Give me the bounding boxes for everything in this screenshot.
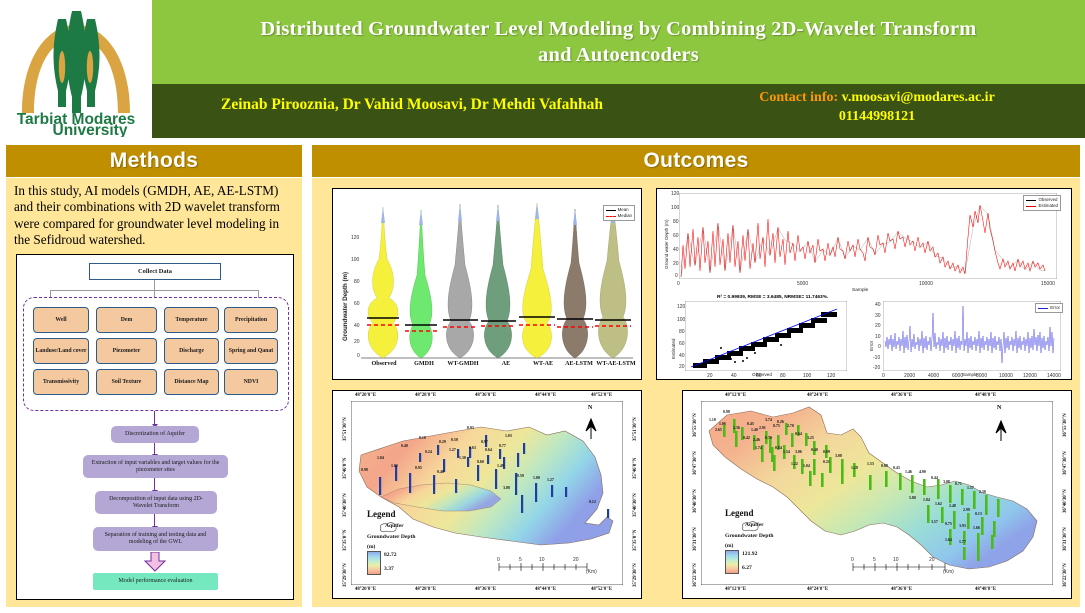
well-value-label: 1.03 bbox=[505, 434, 512, 438]
well-value-label: 0.88 bbox=[881, 464, 888, 468]
well-value-label: 0.12 bbox=[589, 500, 596, 504]
error-xlabel: Sample bbox=[962, 372, 978, 377]
map1-legend-depth-title: Groundwater Depth bbox=[367, 534, 415, 540]
well-value-label: 3.06 bbox=[795, 450, 802, 454]
violin-ytick-120: 120 bbox=[351, 235, 359, 241]
well-value-label: 0.95 bbox=[415, 466, 422, 470]
map1-lon-b3: 48°36'0"E bbox=[475, 587, 496, 592]
map1-legend-min: 3.37 bbox=[384, 566, 394, 572]
map2-legend-colorramp bbox=[725, 550, 739, 574]
violin-ytick-0: 0 bbox=[357, 353, 360, 359]
error-legend-swatch bbox=[1038, 308, 1048, 309]
ts-legend-estimated-swatch bbox=[1026, 206, 1036, 207]
map1-legend-title: Legend bbox=[367, 509, 396, 519]
flow-var-temperature: Temperature bbox=[164, 307, 219, 333]
well-value-label: 2.70 bbox=[787, 424, 794, 428]
well-value-label: 1.04 bbox=[803, 464, 810, 468]
ts-xtick-10000: 10000 bbox=[919, 281, 933, 287]
author-list: Zeinab Pirooznia, Dr Vahid Moosavi, Dr M… bbox=[162, 96, 662, 114]
well-value-label: 1.74 bbox=[755, 446, 762, 450]
scatter-canvas bbox=[685, 301, 847, 371]
methods-body-text: In this study, AI models (GMDH, AE, AE-L… bbox=[14, 183, 296, 249]
error-ytick-40: 40 bbox=[875, 302, 881, 308]
flow-var-transmissivity: Transmissivity bbox=[33, 369, 89, 395]
contact-info: Contact info: v.moosavi@modares.ac.ir 01… bbox=[672, 88, 1082, 126]
map2-lon-4: 48°48'0"E bbox=[975, 393, 996, 398]
well-value-label: 2.91 bbox=[759, 426, 766, 430]
well-value-label: 1.22 bbox=[791, 462, 798, 466]
map1-lat-r3: 35°40'30"N bbox=[633, 493, 638, 517]
map2-lat-3: 36°40'30"N bbox=[693, 489, 698, 513]
scatter-stats-title: R² = 0.99939, RMSE = 3.6485, NRMSE= 11.7… bbox=[717, 295, 828, 300]
violin-legend-median-swatch bbox=[606, 216, 616, 217]
map2-legend-depth-title: Groundwater Depth bbox=[725, 533, 773, 539]
flow-var-distance-map: Distance Map bbox=[164, 369, 219, 395]
well-value-label: 0.43 bbox=[893, 466, 900, 470]
error-ytick-10: 10 bbox=[875, 334, 881, 340]
methods-title: Methods bbox=[110, 149, 198, 173]
ts-xtick-5000: 5000 bbox=[797, 281, 808, 287]
map2-lon-1: 48°12'0"E bbox=[725, 393, 746, 398]
flow-var-precipitation: Precipitation bbox=[224, 307, 278, 333]
well-value-label: 2.65 bbox=[715, 428, 722, 432]
well-value-label: 0.10 bbox=[419, 436, 426, 440]
well-value-label: 1.40 bbox=[751, 428, 758, 432]
violin-ytick-80: 80 bbox=[354, 279, 360, 285]
timeseries-ylabel: Ground water Depth (m) bbox=[664, 219, 669, 269]
violin-xtick-wt-ae-lstm: WT-AE-LSTM bbox=[591, 361, 641, 367]
scatter-xtick-120: 120 bbox=[827, 373, 835, 379]
map1-scale-unit: (Km) bbox=[586, 569, 597, 575]
error-ytick-0: 0 bbox=[878, 344, 881, 350]
map1-lon-b5: 48°52'0"E bbox=[591, 587, 612, 592]
map1-legend-aquifer: Aquifer bbox=[385, 523, 404, 529]
flow-step-extraction: Extraction of input variables and target… bbox=[83, 455, 228, 478]
map1-scale-20: 20 bbox=[573, 557, 579, 563]
violin-xtick-observed: Observed bbox=[363, 361, 405, 367]
map1-lat-2: 35°46'0"N bbox=[343, 458, 348, 479]
scatter-ytick-80: 80 bbox=[679, 329, 685, 335]
outcomes-section-header: Outcomes bbox=[312, 145, 1080, 177]
violin-ylabel: Groundwater Depth (m) bbox=[342, 272, 349, 341]
flow-var-well: Well bbox=[33, 307, 89, 333]
map1-lat-r5: 35°29'30"N bbox=[633, 563, 638, 587]
map2-scale-0: 0 bbox=[851, 557, 854, 563]
ts-xtick-0: 0 bbox=[677, 281, 680, 287]
map2-lat-r3: 36°40'30"N bbox=[1063, 489, 1068, 513]
map2-lon-3: 48°36'0"E bbox=[891, 393, 912, 398]
map1-legend-colorramp bbox=[367, 551, 381, 575]
well-value-label: 1.06 bbox=[719, 422, 726, 426]
poster-header: Tarbiat Modares University Distributed G… bbox=[0, 0, 1085, 142]
flow-var-landuse: Landuse/Land cover bbox=[33, 338, 89, 364]
well-value-label: 1.53 bbox=[867, 462, 874, 466]
well-value-label: 1.30 bbox=[459, 456, 466, 460]
well-value-label: 0.24 bbox=[425, 450, 432, 454]
map2-lon-b2: 48°24'0"E bbox=[807, 587, 828, 592]
flow-var-spring-qanat: Spring and Qanat bbox=[224, 338, 278, 364]
map2-lon-b3: 48°36'0"E bbox=[891, 587, 912, 592]
well-value-label: 3.08 bbox=[503, 486, 510, 490]
violin-xtick-ae: AE bbox=[485, 361, 527, 367]
well-value-label: 0.64 bbox=[485, 448, 492, 452]
scatter-xtick-80: 80 bbox=[780, 373, 786, 379]
map1-lon-2: 48°28'0"E bbox=[415, 393, 436, 398]
error-xtick-0: 0 bbox=[882, 373, 885, 379]
map1-lat-3: 35°40'30"N bbox=[343, 493, 348, 517]
well-value-label: 0.75 bbox=[773, 424, 780, 428]
error-legend-label: Error bbox=[1050, 305, 1060, 311]
well-value-label: 0.77 bbox=[499, 444, 506, 448]
well-value-label: 2.36 bbox=[733, 426, 740, 430]
well-value-label: 0.42 bbox=[743, 436, 750, 440]
well-value-label: 1.54 bbox=[783, 450, 790, 454]
well-value-label: 3.74 bbox=[765, 418, 772, 422]
violin-xtick-wt-gmdh: WT-GMDH bbox=[438, 361, 488, 367]
error-xtick-2000: 2000 bbox=[904, 373, 915, 379]
well-value-label: 0.63 bbox=[469, 446, 476, 450]
well-value-label: 3.08 bbox=[835, 454, 842, 458]
well-value-label: 0.50 bbox=[451, 438, 458, 442]
flow-step-separation: Separation of training and testing data … bbox=[93, 527, 218, 551]
flow-var-soil-texture: Soil Texture bbox=[96, 369, 157, 395]
contact-label: Contact info: bbox=[759, 90, 838, 105]
well-value-label: 1.27 bbox=[449, 448, 456, 452]
well-value-label: 0.75 bbox=[945, 522, 952, 526]
well-value-label: 5.80 bbox=[909, 496, 916, 500]
well-value-label: 0.44 bbox=[931, 476, 938, 480]
map2-lon-b1: 48°12'0"E bbox=[725, 587, 746, 592]
poster-title-band: Distributed Groundwater Level Modeling b… bbox=[152, 0, 1085, 84]
well-value-label: 0.93 bbox=[467, 426, 474, 430]
map2-lon-b4: 48°48'0"E bbox=[975, 587, 996, 592]
down-arrow-icon bbox=[144, 552, 166, 572]
well-value-label: 0.13 bbox=[975, 512, 982, 516]
well-value-label: 1.10 bbox=[709, 418, 716, 422]
error-ytick-20: 20 bbox=[875, 323, 881, 329]
methodology-flowchart: Collect Data Well Dem Temperature Precip… bbox=[16, 254, 294, 600]
scatter-xtick-40: 40 bbox=[731, 373, 737, 379]
well-value-label: 1.27 bbox=[547, 478, 554, 482]
scatter-xlabel: Observed bbox=[752, 372, 772, 377]
error-xtick-4000: 4000 bbox=[928, 373, 939, 379]
map1-lat-r2: 35°46'0"N bbox=[633, 458, 638, 479]
well-value-label: 0.64 bbox=[795, 432, 802, 436]
map2-legend-aquifer: Aquifer bbox=[745, 522, 764, 528]
violin-legend: Mean Median bbox=[603, 205, 635, 221]
well-value-label: 1.49 bbox=[497, 464, 504, 468]
well-value-label: 1.57 bbox=[967, 486, 974, 490]
well-value-label: 0.98 bbox=[361, 468, 368, 472]
well-value-label: 0.71 bbox=[955, 482, 962, 486]
well-value-label: 2.46 bbox=[753, 438, 760, 442]
ts-ytick-20: 20 bbox=[673, 261, 679, 267]
well-value-label: 0.59 bbox=[517, 474, 524, 478]
map2-lat-r1: 36°55'30"N bbox=[1063, 413, 1068, 437]
flow-var-discharge: Discharge bbox=[164, 338, 219, 364]
map2-scale-10: 10 bbox=[893, 557, 899, 563]
timeseries-xlabel: Sample bbox=[852, 288, 868, 293]
map2-lat-5: 36°22'30"N bbox=[693, 563, 698, 587]
ts-ytick-0: 0 bbox=[675, 273, 678, 279]
well-value-label: 0.21 bbox=[823, 460, 830, 464]
violin-ytick-40: 40 bbox=[354, 323, 360, 329]
map1-scale-10: 10 bbox=[539, 557, 545, 563]
methods-section-header: Methods bbox=[6, 145, 302, 177]
well-value-label: 0.45 bbox=[747, 422, 754, 426]
authors-band: Zeinab Pirooznia, Dr Vahid Moosavi, Dr M… bbox=[152, 84, 1085, 138]
map2-lat-r2: 36°47'30"N bbox=[1063, 451, 1068, 475]
map1-lon-b2: 48°28'0"E bbox=[415, 587, 436, 592]
map2-canvas: 0.981.101.062.652.360.453.740.261.402.91… bbox=[701, 401, 1053, 585]
map-left-figure: 48°20'0"E 48°28'0"E 48°36'0"E 48°44'0"E … bbox=[332, 390, 642, 599]
map2-scale-unit: (Km) bbox=[943, 569, 954, 575]
well-value-label: 2.30 bbox=[979, 490, 986, 494]
map2-north-label: N bbox=[997, 405, 1001, 411]
flow-var-ndvi: NDVI bbox=[224, 369, 278, 395]
violin-ytick-100: 100 bbox=[351, 257, 359, 263]
scatter-xtick-100: 100 bbox=[803, 373, 811, 379]
ts-ytick-60: 60 bbox=[673, 233, 679, 239]
map2-legend-max: 121.92 bbox=[742, 551, 757, 557]
violin-ytick-60: 60 bbox=[354, 301, 360, 307]
ts-ytick-40: 40 bbox=[673, 247, 679, 253]
model-performance-figure: Ground water Depth (m) 120 100 80 60 40 … bbox=[656, 188, 1072, 380]
well-value-label: 0.98 bbox=[723, 410, 730, 414]
well-value-label: 1.66 bbox=[973, 526, 980, 530]
scatter-ytick-40: 40 bbox=[679, 353, 685, 359]
map1-lat-r1: 35°51'30"N bbox=[633, 417, 638, 441]
map1-lat-5: 35°29'30"N bbox=[343, 563, 348, 587]
well-value-label: 1.62 bbox=[935, 502, 942, 506]
map-right-figure: 48°12'0"E 48°24'0"E 48°36'0"E 48°48'0"E … bbox=[682, 390, 1072, 599]
map1-north-label: N bbox=[588, 405, 592, 411]
well-value-label: 0.40 bbox=[811, 448, 818, 452]
poster-root: Tarbiat Modares University Distributed G… bbox=[0, 0, 1085, 613]
map2-legend-unit: (m) bbox=[725, 543, 733, 549]
map1-legend-max: 82.72 bbox=[384, 552, 397, 558]
timeseries-legend: Observed Estimated bbox=[1023, 195, 1061, 211]
flow-collect-data: Collect Data bbox=[89, 263, 221, 280]
map2-lat-2: 36°47'30"N bbox=[693, 451, 698, 475]
map1-scale-5: 5 bbox=[519, 557, 522, 563]
map2-lat-4: 36°31'30"N bbox=[693, 527, 698, 551]
methods-panel: In this study, AI models (GMDH, AE, AE-L… bbox=[6, 178, 302, 607]
poster-title-line1: Distributed Groundwater Level Modeling b… bbox=[260, 18, 976, 40]
well-value-label: 1.00 bbox=[533, 476, 540, 480]
map1-lon-4: 48°44'0"E bbox=[535, 393, 556, 398]
outcomes-title: Outcomes bbox=[643, 149, 748, 173]
scatter-ylabel: Estimated bbox=[671, 339, 676, 359]
map2-lat-r4: 36°31'30"N bbox=[1063, 527, 1068, 551]
scatter-ytick-60: 60 bbox=[679, 341, 685, 347]
logo-line2: University bbox=[53, 122, 128, 137]
well-value-label: 0.84 bbox=[775, 446, 782, 450]
timeseries-canvas bbox=[679, 193, 1057, 279]
flow-step-discretization: Discretization of Aquifer bbox=[111, 426, 199, 443]
error-ylabel: Error bbox=[869, 341, 874, 351]
error-ytick-n10: -10 bbox=[873, 355, 880, 361]
error-xtick-12000: 12000 bbox=[1023, 373, 1037, 379]
map2-scale-5: 5 bbox=[873, 557, 876, 563]
university-logo: Tarbiat Modares University bbox=[0, 0, 152, 142]
map1-lat-r4: 35°35'0"N bbox=[633, 530, 638, 551]
well-value-label: 1.64 bbox=[945, 538, 952, 542]
map1-lat-1: 35°51'30"N bbox=[343, 417, 348, 441]
violin-legend-mean-swatch bbox=[606, 210, 616, 211]
map2-lat-r5: 36°22'30"N bbox=[1063, 563, 1068, 587]
well-value-label: 1.28 bbox=[851, 466, 858, 470]
map2-lat-1: 36°55'30"N bbox=[693, 413, 698, 437]
scatter-ytick-20: 20 bbox=[679, 364, 685, 370]
map1-legend-unit: (m) bbox=[367, 544, 375, 550]
flow-step-decomposition: Decomposition of input data using 2D- Wa… bbox=[95, 491, 217, 514]
violin-ytick-20: 20 bbox=[354, 339, 360, 345]
well-value-label: 1.04 bbox=[377, 456, 384, 460]
map1-scale-0: 0 bbox=[497, 557, 500, 563]
error-ytick-n20: -20 bbox=[873, 365, 880, 371]
well-value-label: 0.70 bbox=[765, 436, 772, 440]
well-value-label: 1.77 bbox=[959, 540, 966, 544]
well-value-label: 3.08 bbox=[943, 480, 950, 484]
well-value-label: 1.46 bbox=[905, 470, 912, 474]
flow-var-piezometer: Piezometer bbox=[96, 338, 157, 364]
well-value-label: 2.99 bbox=[963, 508, 970, 512]
tarbiat-modares-logo-icon: Tarbiat Modares University bbox=[12, 5, 140, 137]
ts-legend-estimated-label: Estimated bbox=[1038, 203, 1058, 209]
map1-lat-4: 35°35'0"N bbox=[343, 530, 348, 551]
well-value-label: 3.25 bbox=[807, 436, 814, 440]
page-title: Distributed Groundwater Level Modeling b… bbox=[244, 16, 992, 68]
contact-email[interactable]: v.moosavi@modares.ac.ir bbox=[842, 90, 995, 105]
violin-plot-figure: Groundwater Depth (m) 120 100 80 60 40 2… bbox=[332, 188, 642, 380]
scatter-xtick-20: 20 bbox=[707, 373, 713, 379]
well-value-label: 0.09 bbox=[823, 450, 830, 454]
map1-lon-5: 48°52'0"E bbox=[591, 393, 612, 398]
well-value-label: 0.29 bbox=[439, 440, 446, 444]
well-value-label: 3.57 bbox=[931, 520, 938, 524]
contact-phone: 01144998121 bbox=[672, 107, 1082, 126]
well-value-label: 1.02 bbox=[391, 464, 398, 468]
map2-legend-title: Legend bbox=[725, 508, 754, 518]
violin-legend-median-label: Median bbox=[618, 213, 632, 219]
map1-lon-3: 48°36'0"E bbox=[475, 393, 496, 398]
flow-final-evaluation: Model performance evaluation bbox=[93, 573, 218, 590]
poster-title-line2: and Autoencoders bbox=[538, 44, 699, 66]
header-divider bbox=[152, 138, 1085, 142]
violin-plot-canvas bbox=[361, 203, 633, 359]
well-value-label: 4.90 bbox=[919, 470, 926, 474]
error-legend: Error bbox=[1035, 303, 1063, 313]
well-value-label: 0.40 bbox=[401, 444, 408, 448]
ts-legend-observed-swatch bbox=[1026, 200, 1036, 201]
well-value-label: 0.97 bbox=[481, 440, 488, 444]
map2-legend-min: 6.27 bbox=[742, 565, 752, 571]
map1-lon-b4: 48°44'0"E bbox=[535, 587, 556, 592]
ts-ytick-80: 80 bbox=[673, 219, 679, 225]
outcomes-panel: Groundwater Depth (m) 120 100 80 60 40 2… bbox=[312, 178, 1080, 607]
flow-var-dem: Dem bbox=[96, 307, 157, 333]
map1-lon-b1: 48°20'0"E bbox=[355, 587, 376, 592]
map2-scale-20: 20 bbox=[929, 557, 935, 563]
error-ytick-30: 30 bbox=[875, 313, 881, 319]
well-value-label: 3.93 bbox=[959, 524, 966, 528]
well-value-label: 0.46 bbox=[437, 470, 444, 474]
ts-xtick-15000: 15000 bbox=[1041, 281, 1055, 287]
error-xtick-10000: 10000 bbox=[999, 373, 1013, 379]
well-value-label: 2.48 bbox=[949, 504, 956, 508]
well-value-label: 1.84 bbox=[923, 498, 930, 502]
map1-lon-1: 48°20'0"E bbox=[355, 393, 376, 398]
well-value-label: 0.60 bbox=[477, 460, 484, 464]
map2-lon-2: 48°24'0"E bbox=[807, 393, 828, 398]
error-xtick-14000: 14000 bbox=[1047, 373, 1061, 379]
